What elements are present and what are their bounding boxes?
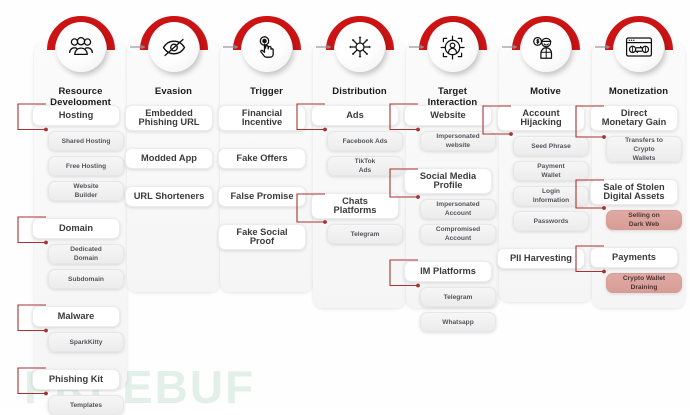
flow-arrow-0 [128,42,150,52]
column-title-evasion: Evasion [127,86,220,97]
eye-slash-icon [149,22,199,72]
item-box-monetization-1-0[interactable]: Selling onDark Web [606,210,682,230]
category-box-target-interaction-2[interactable]: IM Platforms [404,261,492,282]
category-box-resource-development-3[interactable]: Phishing Kit [32,369,120,390]
category-box-distribution-0[interactable]: Ads [311,105,399,126]
distribution-burst-icon [335,22,385,72]
column-title-target-interaction: Target [406,86,499,97]
category-box-motive-0[interactable]: AccountHijacking [497,105,585,131]
item-box-resource-development-0-0[interactable]: Shared Hosting [48,131,124,151]
category-box-monetization-1[interactable]: Sale of StolenDigital Assets [590,179,678,205]
category-box-trigger-0[interactable]: FinancialIncentive [218,105,306,131]
users-group-icon [56,22,106,72]
category-box-resource-development-0[interactable]: Hosting [32,105,120,126]
item-box-resource-development-0-2[interactable]: WebsiteBuilder [48,181,124,201]
category-box-evasion-0[interactable]: EmbeddedPhishing URL [125,105,213,131]
category-box-trigger-2[interactable]: False Promise [218,186,306,207]
item-box-resource-development-1-0[interactable]: DedicatedDomain [48,244,124,264]
item-box-distribution-0-1[interactable]: TikTokAds [327,156,403,176]
column-title-motive: Motive [499,86,592,97]
category-box-motive-1[interactable]: PII Harvesting [497,248,585,269]
column-title-monetization: Monetization [592,86,685,97]
column-title-trigger: Trigger [220,86,313,97]
item-box-target-interaction-1-1[interactable]: CompromisedAccount [420,224,496,244]
category-box-resource-development-2[interactable]: Malware [32,306,120,327]
item-box-motive-0-0[interactable]: Seed Phrase [513,136,589,156]
item-box-distribution-0-0[interactable]: Facebook Ads [327,131,403,151]
category-box-trigger-3[interactable]: Fake SocialProof [218,224,306,250]
category-box-evasion-2[interactable]: URL Shorteners [125,186,213,207]
item-box-target-interaction-0-0[interactable]: Impersonatedwebsite [420,131,496,151]
item-box-monetization-2-0[interactable]: Crypto WalletDraining [606,273,682,293]
item-box-distribution-1-0[interactable]: Telegram [327,224,403,244]
column-title-distribution: Distribution [313,86,406,97]
flow-arrow-5 [593,42,615,52]
item-box-motive-0-2[interactable]: LoginInformation [513,186,589,206]
category-box-target-interaction-0[interactable]: Website [404,105,492,126]
tap-finger-icon [242,22,292,72]
flow-arrow-4 [500,42,522,52]
category-box-target-interaction-1[interactable]: Social MediaProfile [404,168,492,194]
category-box-evasion-1[interactable]: Modded App [125,148,213,169]
crosshair-person-icon [428,22,478,72]
category-box-resource-development-1[interactable]: Domain [32,218,120,239]
column-header-resource-development: ResourceDevelopment [34,12,127,84]
item-box-target-interaction-1-0[interactable]: ImpersonatedAccount [420,199,496,219]
category-box-monetization-0[interactable]: DirectMonetary Gain [590,105,678,131]
item-box-resource-development-2-0[interactable]: SparkKitty [48,332,124,352]
flow-arrow-2 [314,42,336,52]
stage-column-resource-development: ResourceDevelopmentHostingShared Hosting… [34,12,127,84]
diagram-canvas: FREEBUF ResourceDevelopmentHostingShared… [0,0,690,409]
item-box-motive-0-3[interactable]: Passwords [513,211,589,231]
item-box-target-interaction-2-1[interactable]: Whatsapp [420,312,496,332]
item-box-resource-development-0-1[interactable]: Free Hosting [48,156,124,176]
column-title-resource-development: Resource [34,86,127,97]
item-box-target-interaction-2-0[interactable]: Telegram [420,287,496,307]
browser-money-icon [614,22,664,72]
hacker-money-icon [521,22,571,72]
item-box-resource-development-1-1[interactable]: Subdomain [48,269,124,289]
flow-arrow-1 [221,42,243,52]
category-box-trigger-1[interactable]: Fake Offers [218,148,306,169]
item-box-motive-0-1[interactable]: PaymentWallet [513,161,589,181]
category-box-monetization-2[interactable]: Payments [590,247,678,268]
flow-arrow-3 [407,42,429,52]
category-box-distribution-1[interactable]: ChatsPlatforms [311,193,399,219]
item-box-resource-development-3-0[interactable]: Templates [48,395,124,415]
item-box-monetization-0-0[interactable]: Transfers toCryptoWallets [606,136,682,162]
